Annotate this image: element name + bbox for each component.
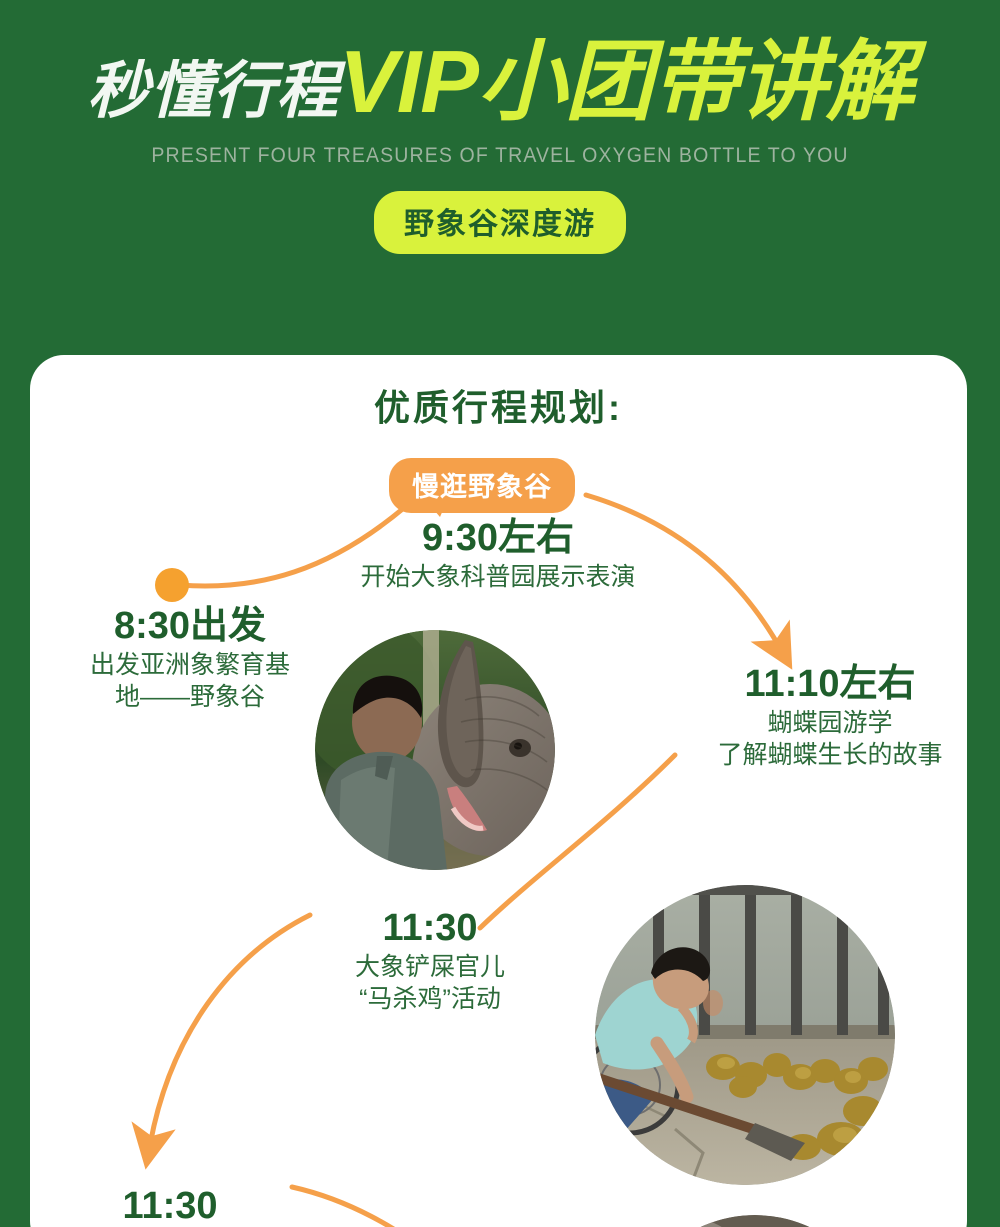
timeline-item-depart: 8:30出发 出发亚洲象繁育基 地——野象谷 — [40, 605, 340, 714]
timeline-desc-line2: 了解蝴蝶生长的故事 — [680, 739, 967, 772]
timeline-desc-line2: “马杀鸡”活动 — [280, 983, 580, 1016]
timeline-item-next-stop: 11:30 — [60, 1185, 280, 1227]
connector-next-outgoing — [292, 1187, 430, 1227]
timeline-desc-line1: 开始大象科普园展示表演 — [298, 561, 698, 594]
route-pill: 慢逛野象谷 — [389, 458, 575, 513]
timeline-time: 11:30 — [280, 907, 580, 951]
timeline-desc-line1: 大象铲屎官儿 — [280, 951, 580, 984]
photo-man-and-elephant — [315, 630, 555, 870]
itinerary-card: 优质行程规划: 慢逛野象谷 — [30, 355, 967, 1227]
timeline-time: 11:30 — [60, 1185, 280, 1227]
timeline-desc-line1: 出发亚洲象繁育基 — [40, 649, 340, 682]
timeline-desc-line2: 地——野象谷 — [40, 681, 340, 714]
timeline-start-dot — [155, 568, 189, 602]
timeline-time: 8:30出发 — [40, 605, 340, 649]
hero-badge: 野象谷深度游 — [374, 191, 626, 254]
timeline-item-butterfly-park: 11:10左右 蝴蝶园游学 了解蝴蝶生长的故事 — [680, 663, 967, 772]
poster-header: 秒懂行程VIP小团带讲解 PRESENT FOUR TREASURES OF T… — [0, 0, 1000, 355]
headline-subtitle: PRESENT FOUR TREASURES OF TRAVEL OXYGEN … — [35, 144, 965, 168]
timeline-desc-line1: 蝴蝶园游学 — [680, 707, 967, 740]
headline-white-part: 秒懂行程 — [87, 57, 339, 126]
timeline-time: 11:10左右 — [680, 663, 967, 707]
photo-boy-shoveling-dung — [595, 885, 895, 1185]
headline: 秒懂行程VIP小团带讲解 — [0, 38, 1000, 126]
timeline-item-elephant-show: 9:30左右 开始大象科普园展示表演 — [298, 517, 698, 593]
headline-lime-part: VIP小团带讲解 — [339, 32, 913, 131]
poster-page: 秒懂行程VIP小团带讲解 PRESENT FOUR TREASURES OF T… — [0, 0, 1000, 1227]
timeline-time: 9:30左右 — [298, 517, 698, 561]
timeline-item-dung-duty: 11:30 大象铲屎官儿 “马杀鸡”活动 — [280, 907, 580, 1016]
